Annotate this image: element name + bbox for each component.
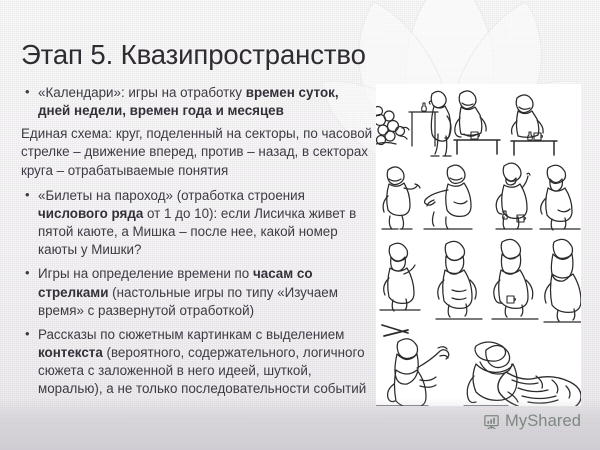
bullet-text-tickets-plain-1: «Билеты на пароход» (отработка строения xyxy=(38,188,305,203)
growing-beard-cartoon-illustration xyxy=(376,84,581,406)
bullet-text-tickets-bold: числового ряда xyxy=(38,206,143,221)
bullet-item-steamship-tickets: «Билеты на пароход» (отработка строения … xyxy=(21,187,373,260)
page-title: Этап 5. Квазипространство xyxy=(21,40,451,71)
slide-body-text: «Календари»: игры на отработку времен су… xyxy=(21,84,373,399)
presentation-chart-icon xyxy=(483,413,500,430)
bullet-text-calendars-plain: «Календари»: игры на отработку xyxy=(38,85,246,100)
paragraph-scheme-text: Единая схема: круг, поделенный на сектор… xyxy=(21,126,372,177)
bullet-text-clock-plain-1: Игры на определение времени по xyxy=(38,266,253,281)
bullet-item-clock-games: Игры на определение времени по часам со … xyxy=(21,265,373,319)
bullet-item-calendars: «Календари»: игры на отработку времен су… xyxy=(21,84,373,120)
slide-canvas: Этап 5. Квазипространство «Календари»: и… xyxy=(0,0,600,450)
bullet-item-story-pictures: Рассказы по сюжетным картинкам с выделен… xyxy=(21,326,373,399)
myshared-watermark: MyShared xyxy=(483,412,581,431)
bullet-text-story-plain-1: Рассказы по сюжетным картинкам с выделен… xyxy=(38,327,344,342)
myshared-label: MyShared xyxy=(505,412,581,431)
illustration-panel xyxy=(376,84,581,406)
bullet-text-story-bold: контекста xyxy=(38,345,103,360)
paragraph-scheme: Единая схема: круг, поделенный на сектор… xyxy=(21,125,373,179)
